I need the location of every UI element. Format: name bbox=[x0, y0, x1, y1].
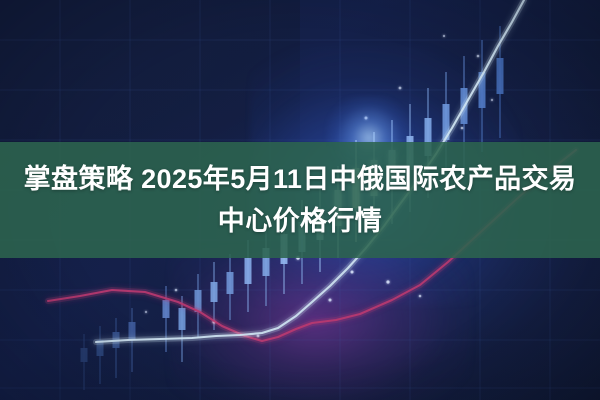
title-line-1: 掌盘策略 2025年5月11日中俄国际农产品交易 bbox=[24, 158, 577, 200]
banner-image-canvas: 掌盘策略 2025年5月11日中俄国际农产品交易 中心价格行情 bbox=[0, 0, 600, 400]
title-banner: 掌盘策略 2025年5月11日中俄国际农产品交易 中心价格行情 bbox=[0, 142, 600, 258]
title-line-2: 中心价格行情 bbox=[218, 200, 382, 242]
